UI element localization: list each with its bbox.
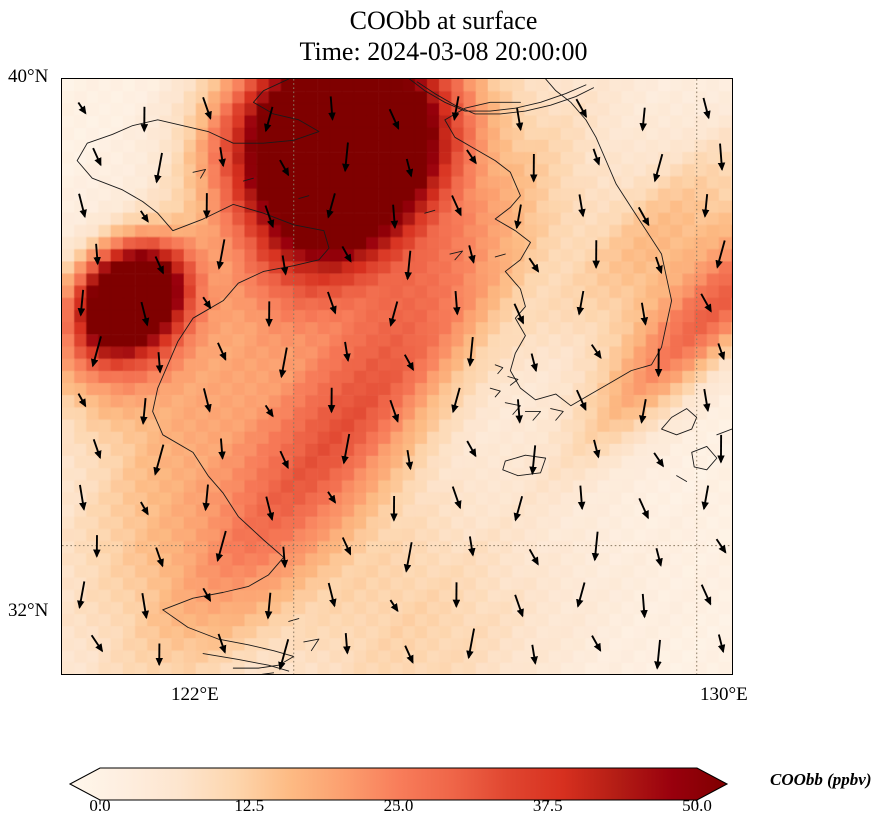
page-title: COObb at surface	[0, 5, 887, 36]
concentration-heatmap	[62, 79, 732, 674]
colorbar-gradient	[0, 758, 887, 808]
colorbar-tick-4: 50.0	[682, 796, 712, 816]
axis-tick-lon-130: 130°E	[700, 684, 748, 706]
colorbar-tick-2: 25.0	[384, 796, 414, 816]
colorbar-title: COObb (ppbv)	[770, 770, 872, 790]
axis-tick-lat-40: 40°N	[8, 66, 48, 88]
colorbar-tick-1: 12.5	[234, 796, 264, 816]
colorbar-tick-0: 0.0	[89, 796, 110, 816]
colorbar: COObb (ppbv) 0.012.525.037.550.0	[0, 758, 887, 836]
map-plot-area[interactable]	[61, 78, 733, 675]
colorbar-tick-3: 37.5	[533, 796, 563, 816]
figure-root: COObb at surface Time: 2024-03-08 20:00:…	[0, 0, 887, 836]
axis-tick-lat-32: 32°N	[8, 600, 48, 622]
axis-tick-lon-122: 122°E	[171, 684, 219, 706]
page-subtitle: Time: 2024-03-08 20:00:00	[0, 36, 887, 67]
